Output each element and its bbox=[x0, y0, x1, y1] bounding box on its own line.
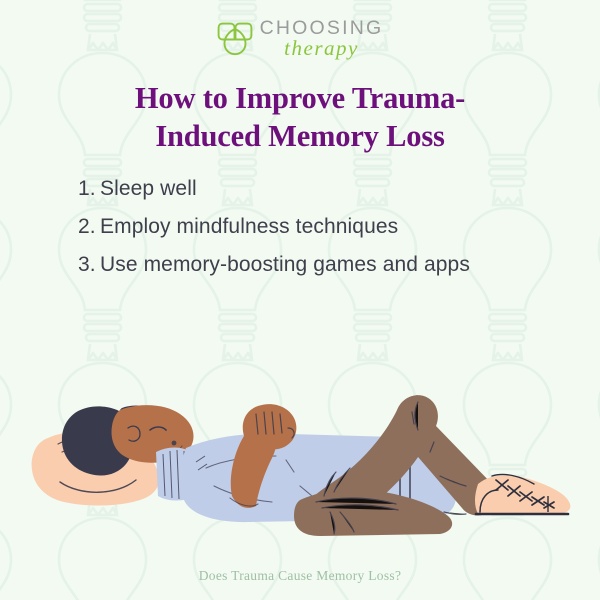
list-item: 3. Use memory-boosting games and apps bbox=[78, 254, 548, 275]
tips-list: 1. Sleep well 2. Employ mindfulness tech… bbox=[78, 178, 548, 292]
leaf-petal-logo-icon bbox=[217, 22, 253, 56]
list-item-label: Use memory-boosting games and apps bbox=[100, 254, 548, 275]
person-lying-down-resting-illustration bbox=[0, 300, 600, 550]
list-item-label: Sleep well bbox=[100, 178, 548, 199]
list-item: 1. Sleep well bbox=[78, 178, 548, 199]
page-title-line-1: How to Improve Trauma- bbox=[40, 80, 560, 118]
list-item-number: 1. bbox=[78, 178, 100, 199]
list-item-number: 2. bbox=[78, 216, 100, 237]
poster-canvas: CHOOSING therapy How to Improve Trauma- … bbox=[0, 0, 600, 600]
footer-caption: Does Trauma Cause Memory Loss? bbox=[0, 568, 600, 584]
logo-word-therapy: therapy bbox=[284, 38, 359, 59]
page-title: How to Improve Trauma- Induced Memory Lo… bbox=[40, 80, 560, 155]
brand-logo[interactable]: CHOOSING therapy bbox=[0, 10, 600, 68]
page-title-line-2: Induced Memory Loss bbox=[40, 118, 560, 156]
list-item: 2. Employ mindfulness techniques bbox=[78, 216, 548, 237]
list-item-label: Employ mindfulness techniques bbox=[100, 216, 548, 237]
sneaker-shoe-shape bbox=[475, 474, 570, 514]
list-item-number: 3. bbox=[78, 254, 100, 275]
